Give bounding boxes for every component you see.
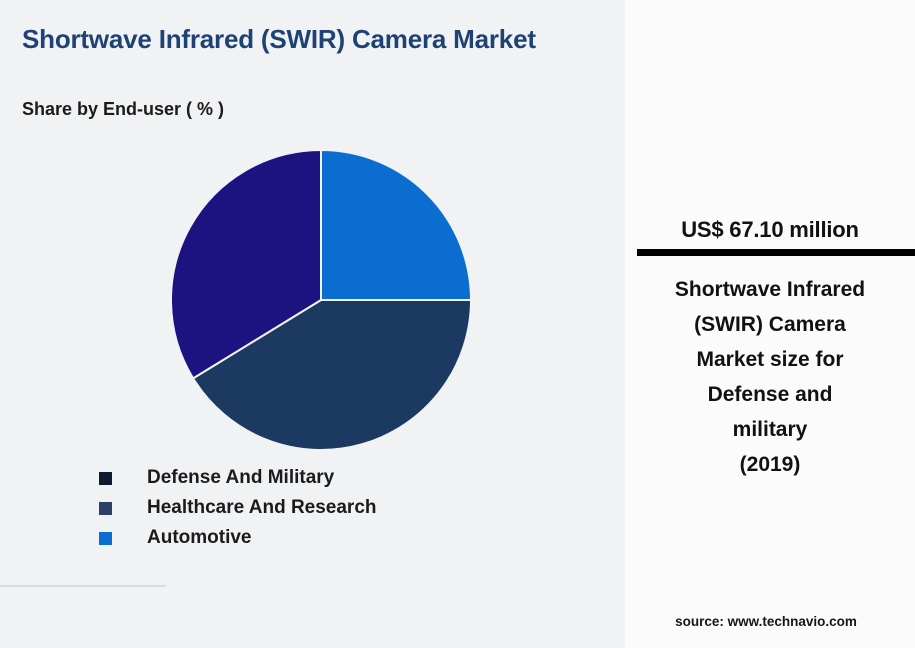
- chart-legend: Defense And Military Healthcare And Rese…: [99, 463, 539, 553]
- chart-subtitle: Share by End-user ( % ): [22, 99, 224, 120]
- kpi-description-line: (2019): [740, 453, 801, 476]
- legend-item-defense-and-military[interactable]: Defense And Military: [99, 463, 539, 493]
- page-title: Shortwave Infrared (SWIR) Camera Market: [22, 24, 592, 55]
- pie-slice-group: [171, 150, 471, 450]
- legend-item-label: Automotive: [147, 527, 252, 549]
- kpi-description-line: military: [733, 418, 808, 441]
- kpi-description-line: Shortwave Infrared: [675, 278, 865, 301]
- pie-chart-svg: [170, 149, 472, 451]
- source-note: source: www.technavio.com: [625, 614, 907, 629]
- legend-item-label: Healthcare And Research: [147, 497, 377, 519]
- pie-chart: [170, 149, 472, 451]
- chart-left-panel: Shortwave Infrared (SWIR) Camera Market …: [0, 0, 620, 648]
- legend-item-healthcare-and-research[interactable]: Healthcare And Research: [99, 493, 539, 523]
- pie-slice[interactable]: [321, 150, 471, 300]
- kpi-description-line: Market size for: [696, 348, 843, 371]
- bottom-divider: [0, 585, 166, 587]
- legend-swatch-icon: [99, 502, 112, 515]
- kpi-accent-bar: [637, 249, 915, 256]
- chart-canvas: Shortwave Infrared (SWIR) Camera Market …: [0, 0, 915, 648]
- kpi-description: Shortwave Infrared(SWIR) CameraMarket si…: [643, 272, 897, 482]
- legend-swatch-icon: [99, 532, 112, 545]
- legend-swatch-icon: [99, 472, 112, 485]
- kpi-value: US$ 67.10 million: [625, 217, 915, 243]
- kpi-panel: US$ 67.10 million Shortwave Infrared(SWI…: [625, 0, 915, 648]
- legend-item-label: Defense And Military: [147, 467, 334, 489]
- kpi-description-line: (SWIR) Camera: [694, 313, 846, 336]
- kpi-description-line: Defense and: [708, 383, 833, 406]
- legend-item-automotive[interactable]: Automotive: [99, 523, 539, 553]
